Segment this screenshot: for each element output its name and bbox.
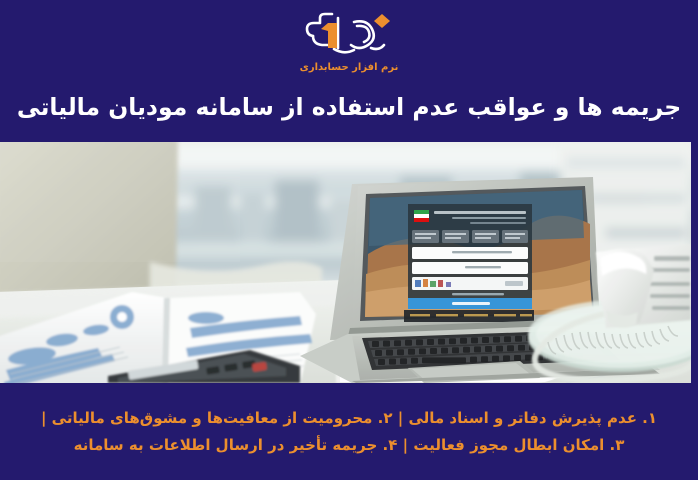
footer-line-2: ۳. امکان ابطال مجوز فعالیت | ۴. جریمه تأ… [74,432,625,459]
poster-root: نرم افزار حسابداری جریمه ها و عواقب عدم … [0,0,698,480]
poster-header: نرم افزار حسابداری جریمه ها و عواقب عدم … [0,0,698,142]
fotra-logo-icon [297,8,401,60]
poster-footer: ۱. عدم پذیرش دفاتر و اسناد مالی | ۲. محر… [0,383,698,480]
hero-photo: BALANCE SHEETS [0,142,691,383]
footer-line-1: ۱. عدم پذیرش دفاتر و اسناد مالی | ۲. محر… [41,405,657,432]
brand-logo: نرم افزار حسابداری [289,8,409,86]
brand-tagline: نرم افزار حسابداری [300,62,399,74]
page-title: جریمه ها و عواقب عدم استفاده از سامانه م… [0,92,698,122]
